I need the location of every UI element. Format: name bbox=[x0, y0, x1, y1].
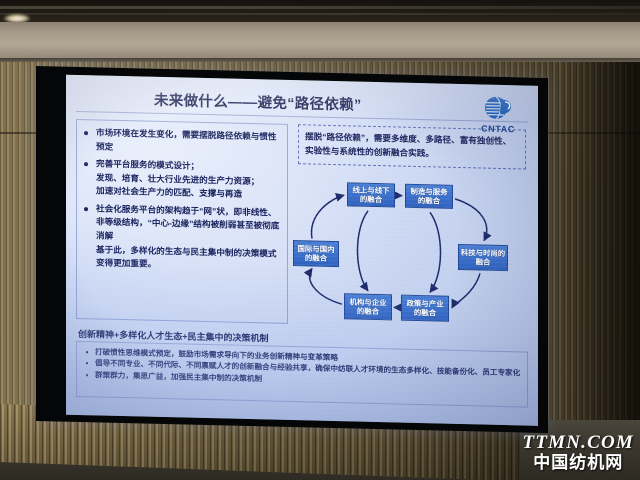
watermark-chinese: 中国纺机网 bbox=[523, 454, 634, 472]
ceiling-rail-secondary bbox=[0, 13, 640, 15]
ceiling-rail bbox=[0, 6, 640, 9]
diagram-node-manufacturing: 制造与服务的融合 bbox=[405, 184, 453, 209]
bottom-bullet-panel: 打破惯性思维模式预定，鼓励市场需求导向下的业务创新精神与变革策略 倡导不同专业、… bbox=[76, 341, 528, 408]
conference-room-photo: 未来做什么——避免“路径依赖” CNTAC bbox=[0, 0, 640, 480]
wall-shadow-right bbox=[560, 62, 640, 422]
diagram-node-international: 国际与国内的融合 bbox=[293, 240, 339, 267]
bullet-text: 社会化服务平台的架构趋于“网”状，即非线性、非等级结构，“中心-边缘”结构被削弱… bbox=[96, 203, 279, 241]
watermark-english: TTMN.COM bbox=[523, 433, 634, 453]
bottom-bullet-list: 打破惯性思维模式预定，鼓励市场需求导向下的业务创新精神与变革策略 倡导不同专业、… bbox=[83, 346, 521, 390]
list-item: 完善平台服务的模式设计； 发现、培育、壮大行业先进的生产力资源； 加速对社会生产… bbox=[82, 157, 282, 202]
fusion-cycle-diagram: 线上与线下的融合 制造与服务的融合 科技与时尚的融合 政策与产业的融合 机构与企… bbox=[292, 178, 532, 329]
cntac-logo: CNTAC bbox=[472, 92, 524, 139]
diagram-node-organization: 机构与企业的融合 bbox=[344, 293, 392, 320]
list-item: 社会化服务平台的架构趋于“网”状，即非线性、非等级结构，“中心-边缘”结构被削弱… bbox=[82, 202, 282, 275]
diagram-node-policy: 政策与产业的融合 bbox=[401, 295, 449, 322]
left-bullet-list: 市场环境在发生变化，需要摆脱路径依赖与惯性预定 完善平台服务的模式设计； 发现、… bbox=[82, 126, 282, 274]
bullet-text: 群策群力，集思广益，加强民主集中制的决策机制 bbox=[95, 370, 262, 383]
presentation-slide: 未来做什么——避免“路径依赖” CNTAC bbox=[66, 75, 538, 426]
list-item: 市场环境在发生变化，需要摆脱路径依赖与惯性预定 bbox=[82, 126, 282, 158]
bullet-subline: 基于此，多样化的生态与民主集中制的决策模式变得更加重要。 bbox=[96, 243, 282, 275]
wall-beam bbox=[0, 22, 640, 62]
cntac-globe-icon bbox=[483, 93, 513, 124]
bullet-text: 市场环境在发生变化，需要摆脱路径依赖与惯性预定 bbox=[96, 127, 276, 151]
watermark: TTMN.COM 中国纺机网 bbox=[523, 433, 634, 472]
projection-screen-frame: 未来做什么——避免“路径依赖” CNTAC bbox=[36, 66, 548, 433]
ceiling bbox=[0, 0, 640, 24]
cntac-logo-text: CNTAC bbox=[472, 123, 524, 134]
diagram-node-technology: 科技与时尚的融合 bbox=[458, 244, 508, 271]
bullet-text: 完善平台服务的模式设计； bbox=[96, 159, 199, 171]
diagram-node-online: 线上与线下的融合 bbox=[347, 182, 395, 207]
left-bullet-panel: 市场环境在发生变化，需要摆脱路径依赖与惯性预定 完善平台服务的模式设计； 发现、… bbox=[76, 119, 288, 324]
